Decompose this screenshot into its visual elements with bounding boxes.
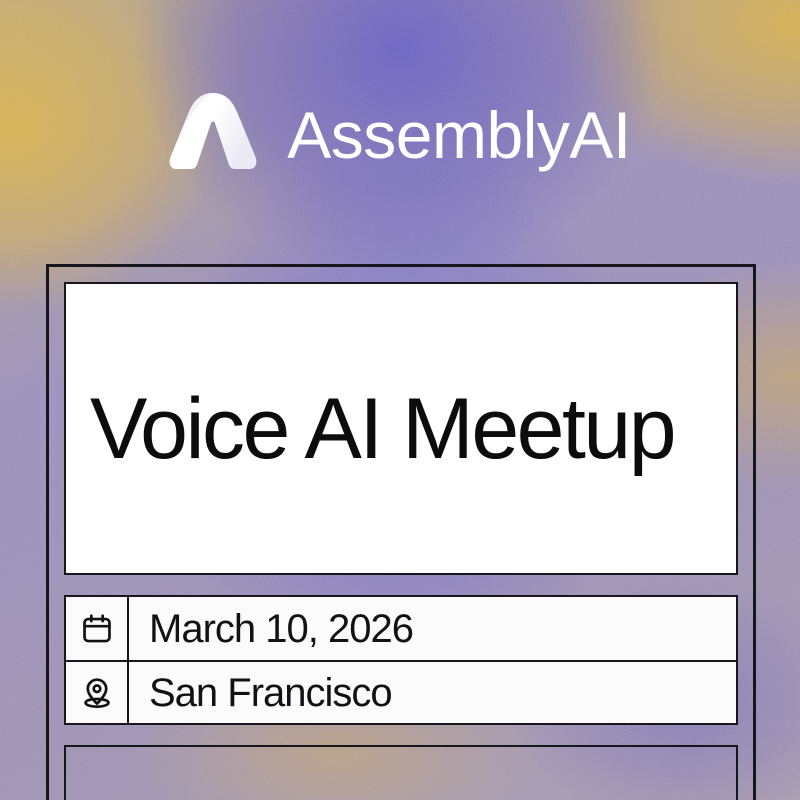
event-date-row: March 10, 2026	[66, 597, 736, 660]
brand-wordmark: AssemblyAI	[287, 102, 630, 168]
event-title-panel: Voice AI Meetup	[64, 282, 738, 575]
assemblyai-chevron-logo-icon	[169, 91, 257, 183]
brand-lockup: AssemblyAI	[0, 82, 800, 192]
event-card: Voice AI Meetup March 10, 2026	[46, 264, 756, 800]
event-meta-panel: March 10, 2026 San Francisco	[64, 595, 738, 725]
event-card-footer-panel	[64, 745, 738, 800]
calendar-icon	[66, 597, 129, 660]
location-pin-icon	[66, 662, 129, 723]
event-location-value: San Francisco	[129, 662, 736, 723]
event-date-value: March 10, 2026	[129, 597, 736, 660]
page-title: Voice AI Meetup	[90, 386, 674, 472]
event-location-row: San Francisco	[66, 660, 736, 723]
